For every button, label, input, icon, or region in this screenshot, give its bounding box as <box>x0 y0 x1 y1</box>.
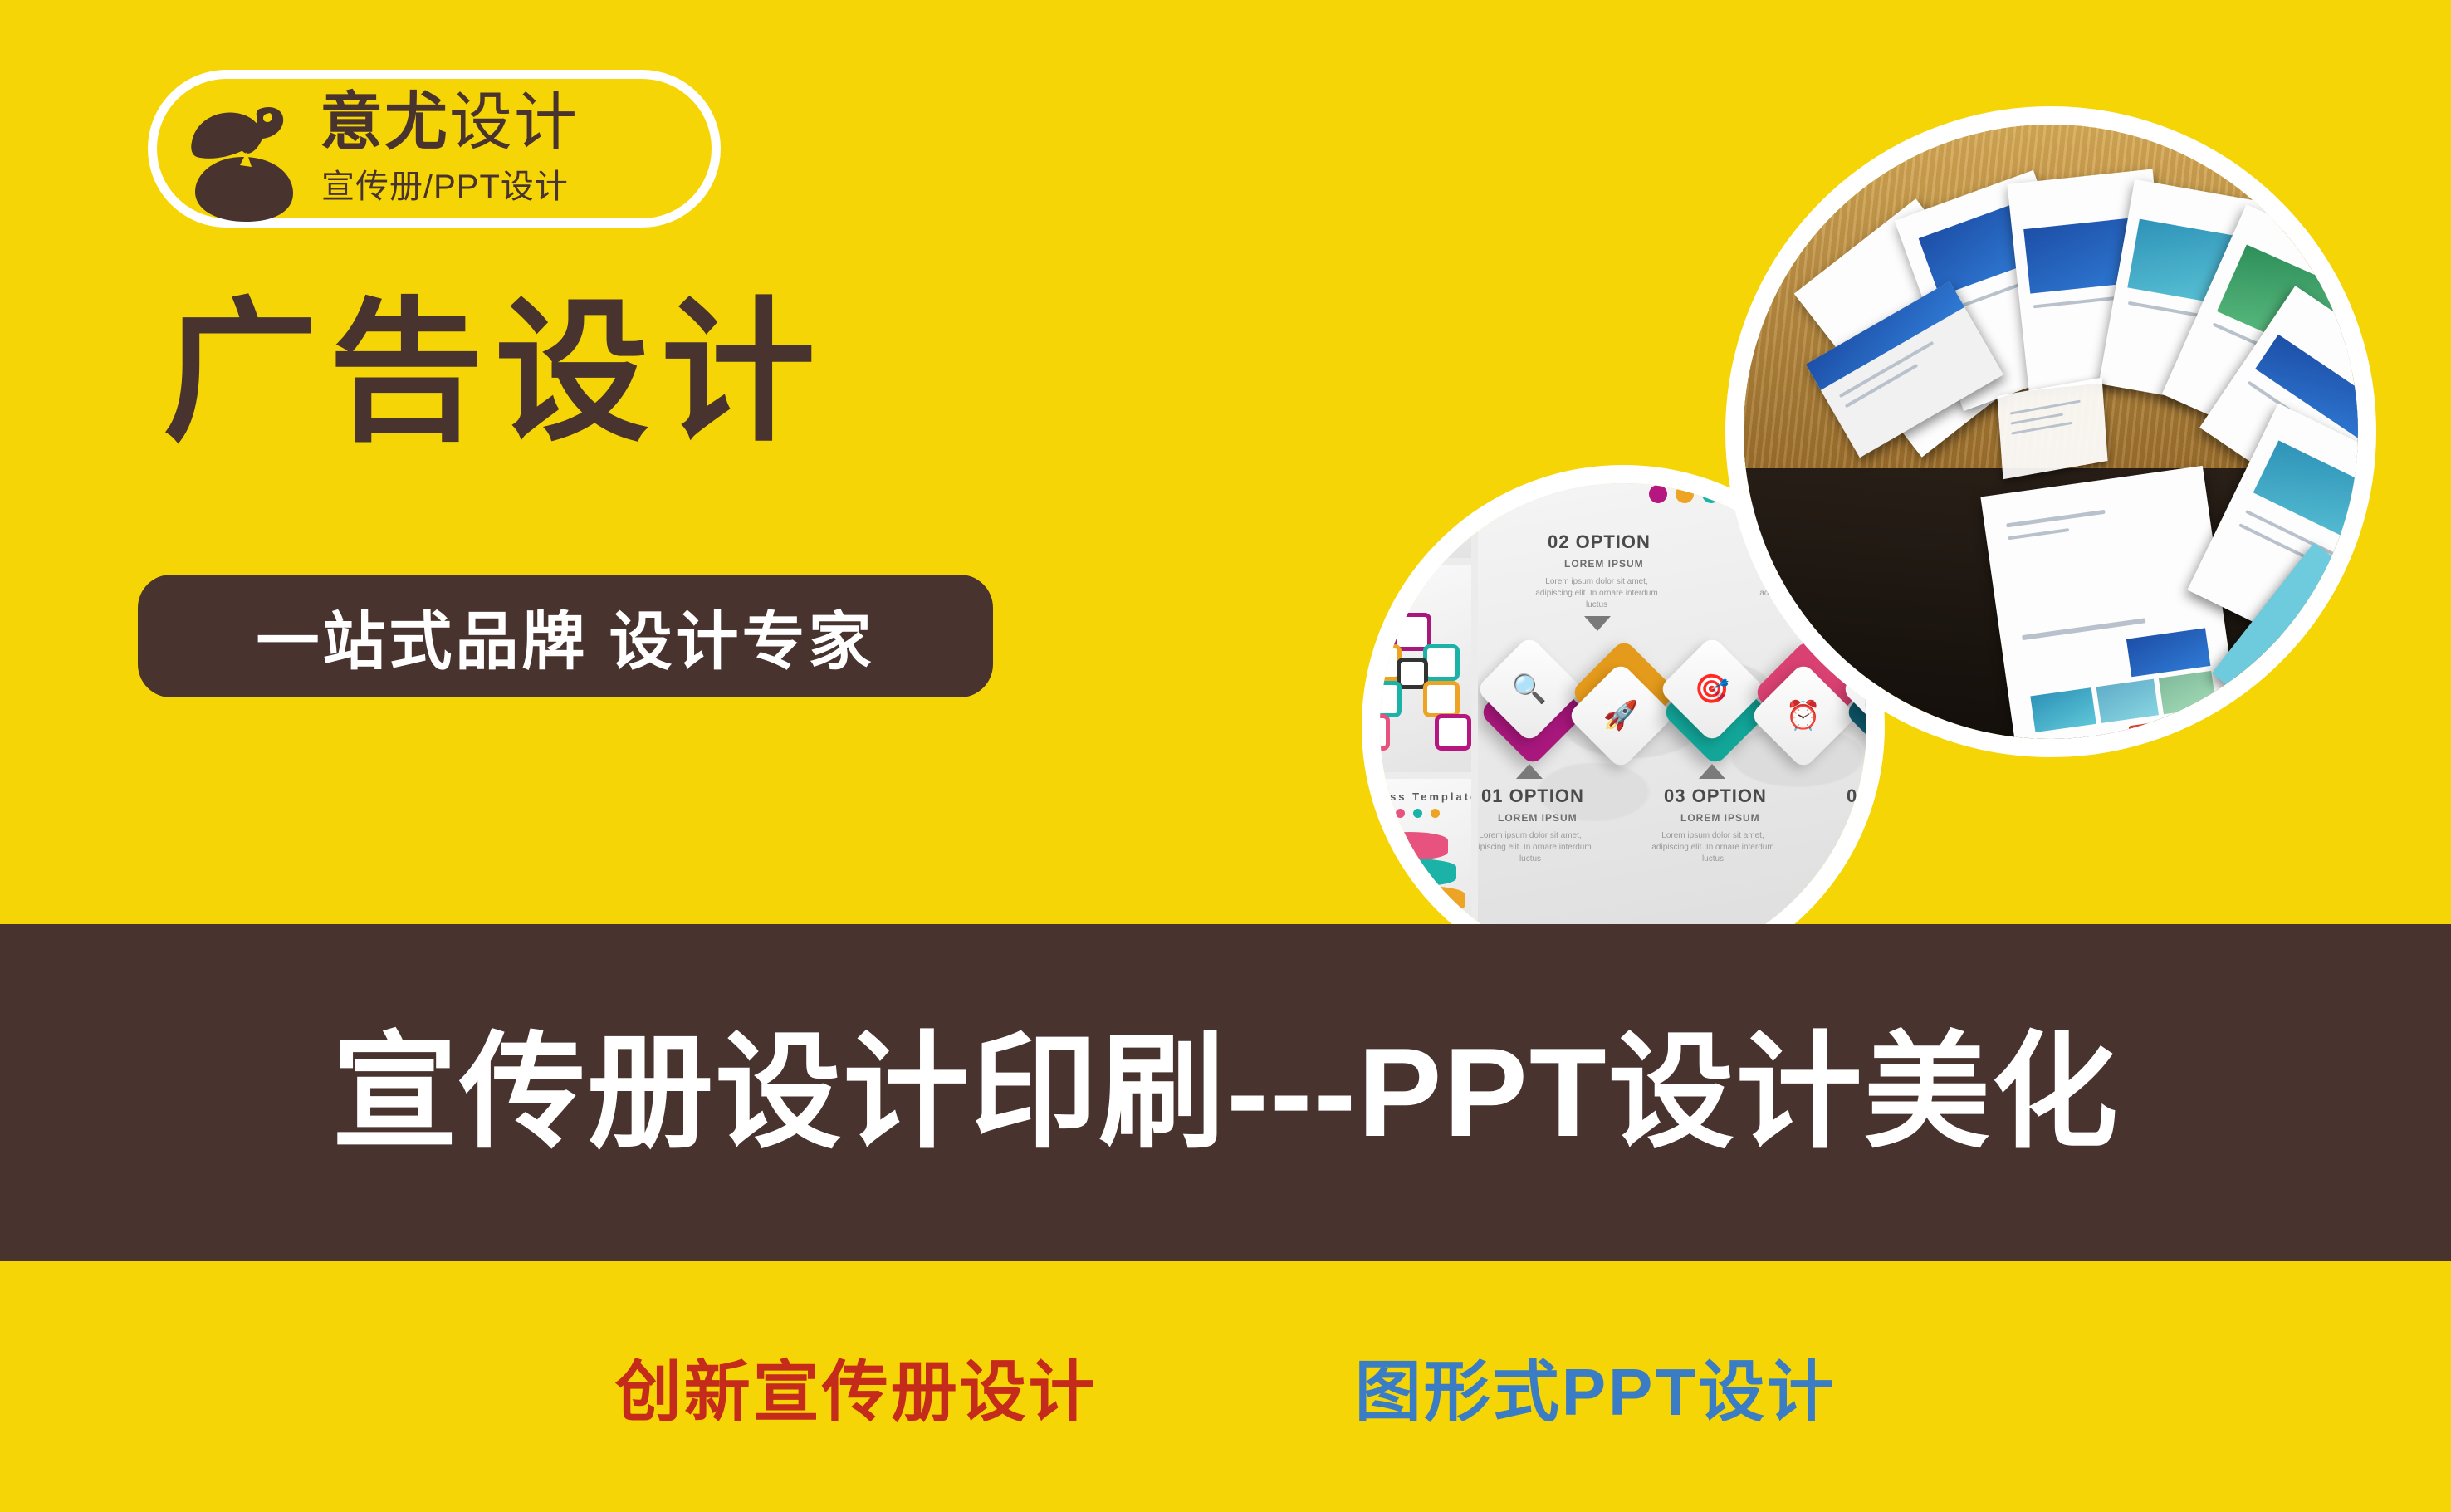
triangle-up-icon <box>1881 764 1885 779</box>
hero-subtitle-text: 一站式品牌 设计专家 <box>256 590 874 682</box>
ppt-option-body-02: Lorem ipsum dolor sit amet, adipiscing e… <box>1526 576 1667 611</box>
brochure-cover-with-stamp: S <box>1980 466 2242 757</box>
ppt-option-label-03: 03 OPTION <box>1664 785 1767 807</box>
red-logo-stamp: S <box>2129 722 2163 756</box>
footer-tag-brochure: 创新宣传册设计 <box>615 1338 1098 1435</box>
ppt-option-label-05: 05 OPTION <box>1847 785 1885 807</box>
logo-brand-name: 意尤设计 <box>320 87 579 159</box>
ppt-option-sub-05: LOREM IPSUM <box>1863 812 1885 824</box>
ppt-option-sub-03: LOREM IPSUM <box>1680 812 1760 824</box>
ppt-option-sub-01: LOREM IPSUM <box>1498 812 1578 824</box>
page-title: 广告设计 <box>163 292 827 455</box>
ppt-option-label-02: 02 OPTION <box>1548 531 1651 553</box>
logo-badge: 意尤设计 宣传册/PPT设计 <box>148 70 721 228</box>
target-icon: 🎯 <box>1674 651 1750 727</box>
magnifier-icon: 🔍 <box>1491 651 1568 727</box>
logo-text-block: 意尤设计 宣传册/PPT设计 <box>320 84 710 230</box>
footer-tag-ppt: 图形式PPT设计 <box>1355 1338 1837 1435</box>
sprout-bird-mark-icon <box>180 91 305 223</box>
ppt-option-body-03: Lorem ipsum dolor sit amet, adipiscing e… <box>1642 830 1783 865</box>
hero-subtitle-pill: 一站式品牌 设计专家 <box>138 575 993 697</box>
printed-brochures-photo: S <box>1725 106 2376 757</box>
footer-tags: 创新宣传册设计 图形式PPT设计 <box>0 1261 2451 1512</box>
triangle-down-icon <box>1584 616 1611 631</box>
ppt-option-sub-02: LOREM IPSUM <box>1564 558 1644 570</box>
desk-background: S <box>1744 125 2358 739</box>
logo-brand-bold: 意尤 <box>320 87 449 158</box>
ppt-thumb-cross-diagram <box>1362 565 1471 772</box>
rocket-icon: 🚀 <box>1583 678 1659 754</box>
ppt-option-label-01: 01 OPTION <box>1481 785 1584 807</box>
ppt-option-body-05: Lorem ipsum dolor sit amet, adipiscing e… <box>1825 830 1885 865</box>
ppt-option-body-01: Lorem ipsum dolor sit amet, adipiscing e… <box>1478 830 1601 865</box>
triangle-up-icon <box>1699 764 1725 779</box>
ppt-thumb-pyramid-title: Business Template <box>1362 790 1471 803</box>
logo-tagline: 宣传册/PPT设计 <box>321 167 569 207</box>
poster-canvas: 意尤设计 宣传册/PPT设计 广告设计 一站式品牌 设计专家 <box>0 0 2451 1512</box>
logo-brand-thin: 设计 <box>449 87 579 158</box>
triangle-up-icon <box>1516 764 1543 779</box>
ppt-thumb-banner <box>1362 465 1471 558</box>
banner-text: 宣传册设计印刷---PPT设计美化 <box>331 1026 2119 1159</box>
main-banner: 宣传册设计印刷---PPT设计美化 <box>0 924 2451 1261</box>
